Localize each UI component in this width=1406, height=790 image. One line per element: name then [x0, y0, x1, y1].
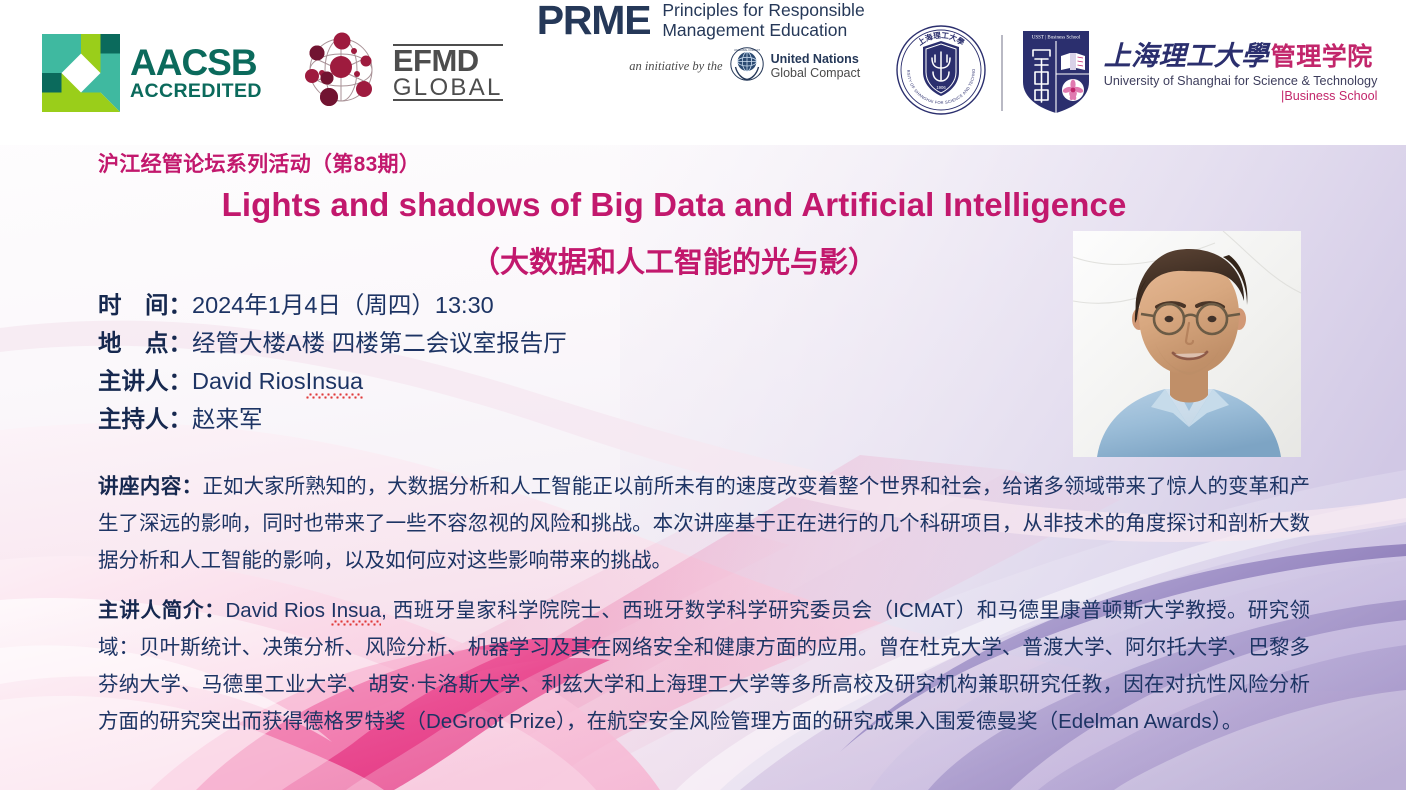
united-nations-label: United Nations	[771, 52, 861, 66]
aacsb-accredited-label: ACCREDITED	[130, 82, 262, 102]
efmd-global-logo: EFMD GLOBAL	[298, 0, 503, 145]
lecture-content-body: 正如大家所熟知的，大数据分析和人工智能正以前所未有的速度改变着整个世界和社会，给…	[98, 475, 1310, 572]
info-row-host: 主持人： 赵来军	[98, 400, 1028, 438]
usst-business-school-logo: USST | Business School	[1017, 24, 1378, 121]
aacsb-mark-icon	[42, 34, 120, 112]
info-value-host: 赵来军	[192, 400, 263, 434]
efmd-wordmark: EFMD	[393, 46, 503, 76]
usst-en-school-name: |Business School	[1104, 89, 1378, 103]
series-subtitle: 沪江经管论坛系列活动（第83期）	[98, 148, 420, 178]
un-seal-text: UN GLOBAL COMPACT	[734, 49, 761, 52]
prme-logo: PRME Principles for Responsible Manageme…	[537, 0, 865, 145]
info-label-speaker: 主讲人：	[98, 362, 192, 396]
shield-banner-text: USST | Business School	[1031, 35, 1080, 40]
accreditation-logo-bar: AACSB ACCREDITED	[0, 0, 1406, 145]
event-details: 时 间： 2024年1月4日（周四）13:30 地 点： 经管大楼A楼 四楼第二…	[98, 286, 1028, 438]
global-compact-label: Global Compact	[771, 66, 861, 80]
info-row-place: 地 点： 经管大楼A楼 四楼第二会议室报告厅	[98, 324, 1028, 362]
info-row-time: 时 间： 2024年1月4日（周四）13:30	[98, 286, 1028, 324]
usst-en-university-name: University of Shanghai for Science & Tec…	[1104, 74, 1378, 88]
un-global-compact-seal-icon: UN GLOBAL COMPACT	[730, 47, 764, 86]
poster-title-english: Lights and shadows of Big Data and Artif…	[0, 186, 1406, 224]
efmd-global-label: GLOBAL	[393, 76, 503, 99]
usst-cn-school-name: 管理学院	[1271, 45, 1373, 70]
info-value-speaker: David Rios	[192, 368, 306, 395]
aacsb-accredited-logo: AACSB ACCREDITED	[42, 0, 262, 145]
prme-tagline-line-1: Principles for Responsible	[662, 0, 864, 20]
info-label-time: 时 间：	[98, 286, 192, 320]
info-row-speaker: 主讲人： David Rios Insua	[98, 362, 1028, 400]
aacsb-wordmark: AACSB	[130, 44, 262, 81]
prme-tagline-line-2: Management Education	[662, 20, 864, 40]
spellcheck-underlined-word: Insua	[306, 368, 364, 399]
spellcheck-underlined-word-bio: Insua	[331, 599, 381, 626]
prme-wordmark: PRME	[537, 2, 651, 39]
info-label-host: 主持人：	[98, 400, 192, 434]
efmd-bottom-rule	[393, 99, 503, 102]
info-value-time: 2024年1月4日（周四）13:30	[192, 286, 494, 320]
seminar-poster: AACSB ACCREDITED	[0, 0, 1406, 790]
speaker-bio-name: David Rios	[226, 599, 332, 622]
seal-year-text: 1906	[936, 85, 946, 90]
usst-logo-group: 上海理工大學 UNIVERSITY OF SHANGHAI FOR SCIENC…	[895, 0, 1378, 145]
prme-initiative-label: an initiative by the	[629, 59, 722, 74]
efmd-network-icon	[298, 27, 384, 118]
speaker-portrait	[1073, 231, 1301, 457]
usst-university-seal: 上海理工大學 UNIVERSITY OF SHANGHAI FOR SCIENC…	[895, 24, 987, 121]
usst-cn-university-name: 上海理工大學	[1104, 43, 1269, 70]
info-label-place: 地 点：	[98, 324, 192, 358]
speaker-bio-label: 主讲人简介：	[98, 599, 226, 622]
lecture-content-paragraph: 讲座内容：正如大家所熟知的，大数据分析和人工智能正以前所未有的速度改变着整个世界…	[98, 468, 1310, 579]
logo-divider	[1001, 35, 1003, 111]
speaker-bio-paragraph: 主讲人简介：David Rios Insua, 西班牙皇家科学院院士、西班牙数学…	[98, 592, 1310, 740]
info-value-place: 经管大楼A楼 四楼第二会议室报告厅	[192, 324, 567, 358]
lecture-content-label: 讲座内容：	[98, 475, 203, 498]
business-school-shield-icon: USST | Business School	[1017, 24, 1095, 121]
